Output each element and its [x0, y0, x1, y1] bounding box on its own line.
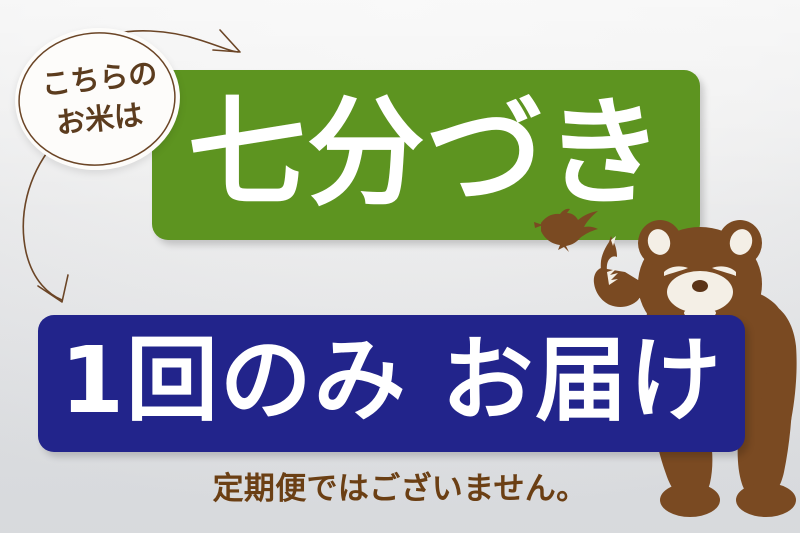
blue-banner-label: 1回のみ お届け [60, 335, 723, 427]
blue-banner: 1回のみ お届け [38, 315, 745, 452]
caption-text: 定期便ではございません。 [0, 463, 800, 508]
speech-bubble-line-1: こちらの [40, 53, 160, 105]
promo-banner-image: こちらの お米は 七分づき [0, 0, 800, 533]
speech-bubble-text: こちらの お米は [8, 20, 187, 178]
speech-bubble-line-2: お米は [54, 94, 145, 143]
bear-nose [692, 280, 708, 292]
